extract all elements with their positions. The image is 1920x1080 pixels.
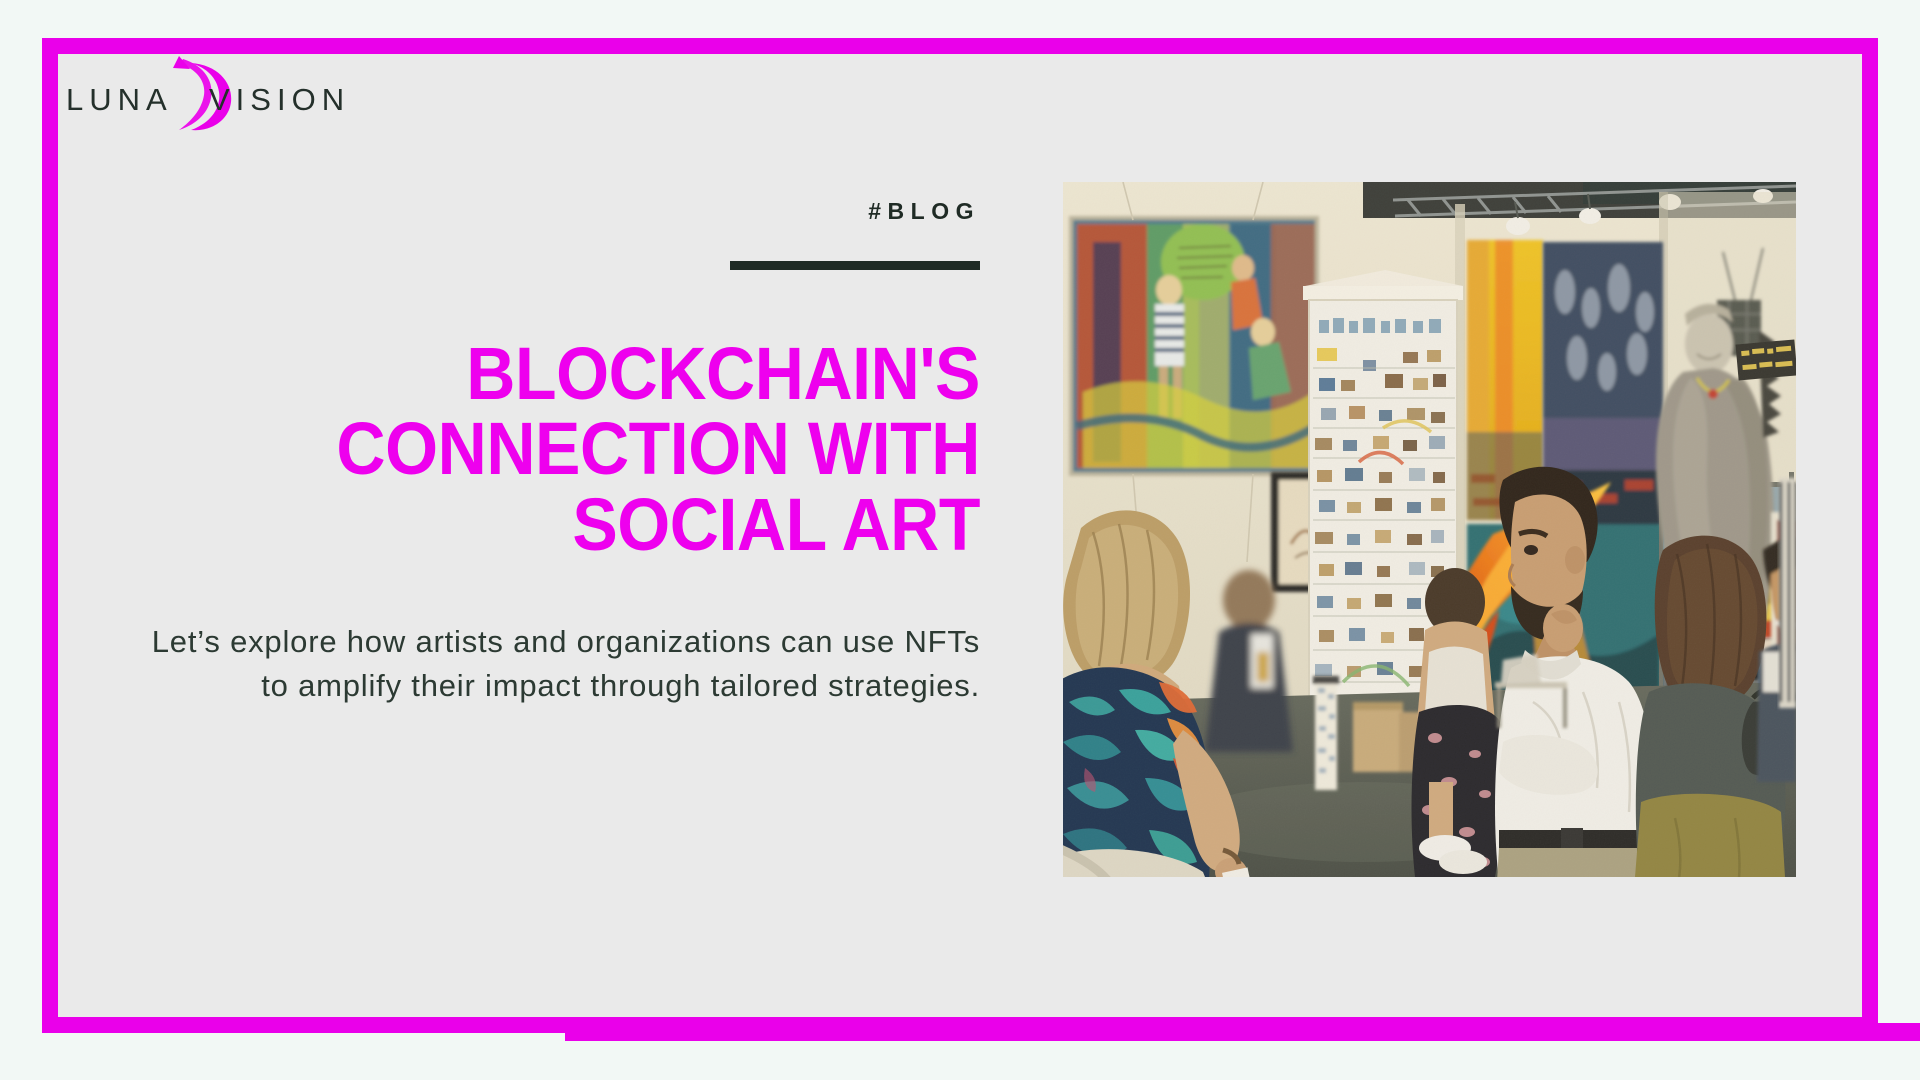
kicker-label: #BLOG — [150, 198, 980, 225]
divider-rule — [730, 261, 980, 270]
hero-photo — [1063, 182, 1796, 877]
logo-word-vision: VISION — [209, 84, 350, 115]
headline-column: #BLOG BLOCKCHAIN'S CONNECTION WITH SOCIA… — [150, 150, 980, 708]
brand-logo[interactable]: LUNA VISION — [66, 58, 366, 130]
page-title: BLOCKCHAIN'S CONNECTION WITH SOCIAL ART — [216, 336, 980, 562]
frame-bottom-accent-bar — [565, 1023, 1920, 1041]
logo-word-luna: LUNA — [66, 84, 173, 115]
subtitle-paragraph: Let’s explore how artists and organizati… — [150, 620, 980, 708]
